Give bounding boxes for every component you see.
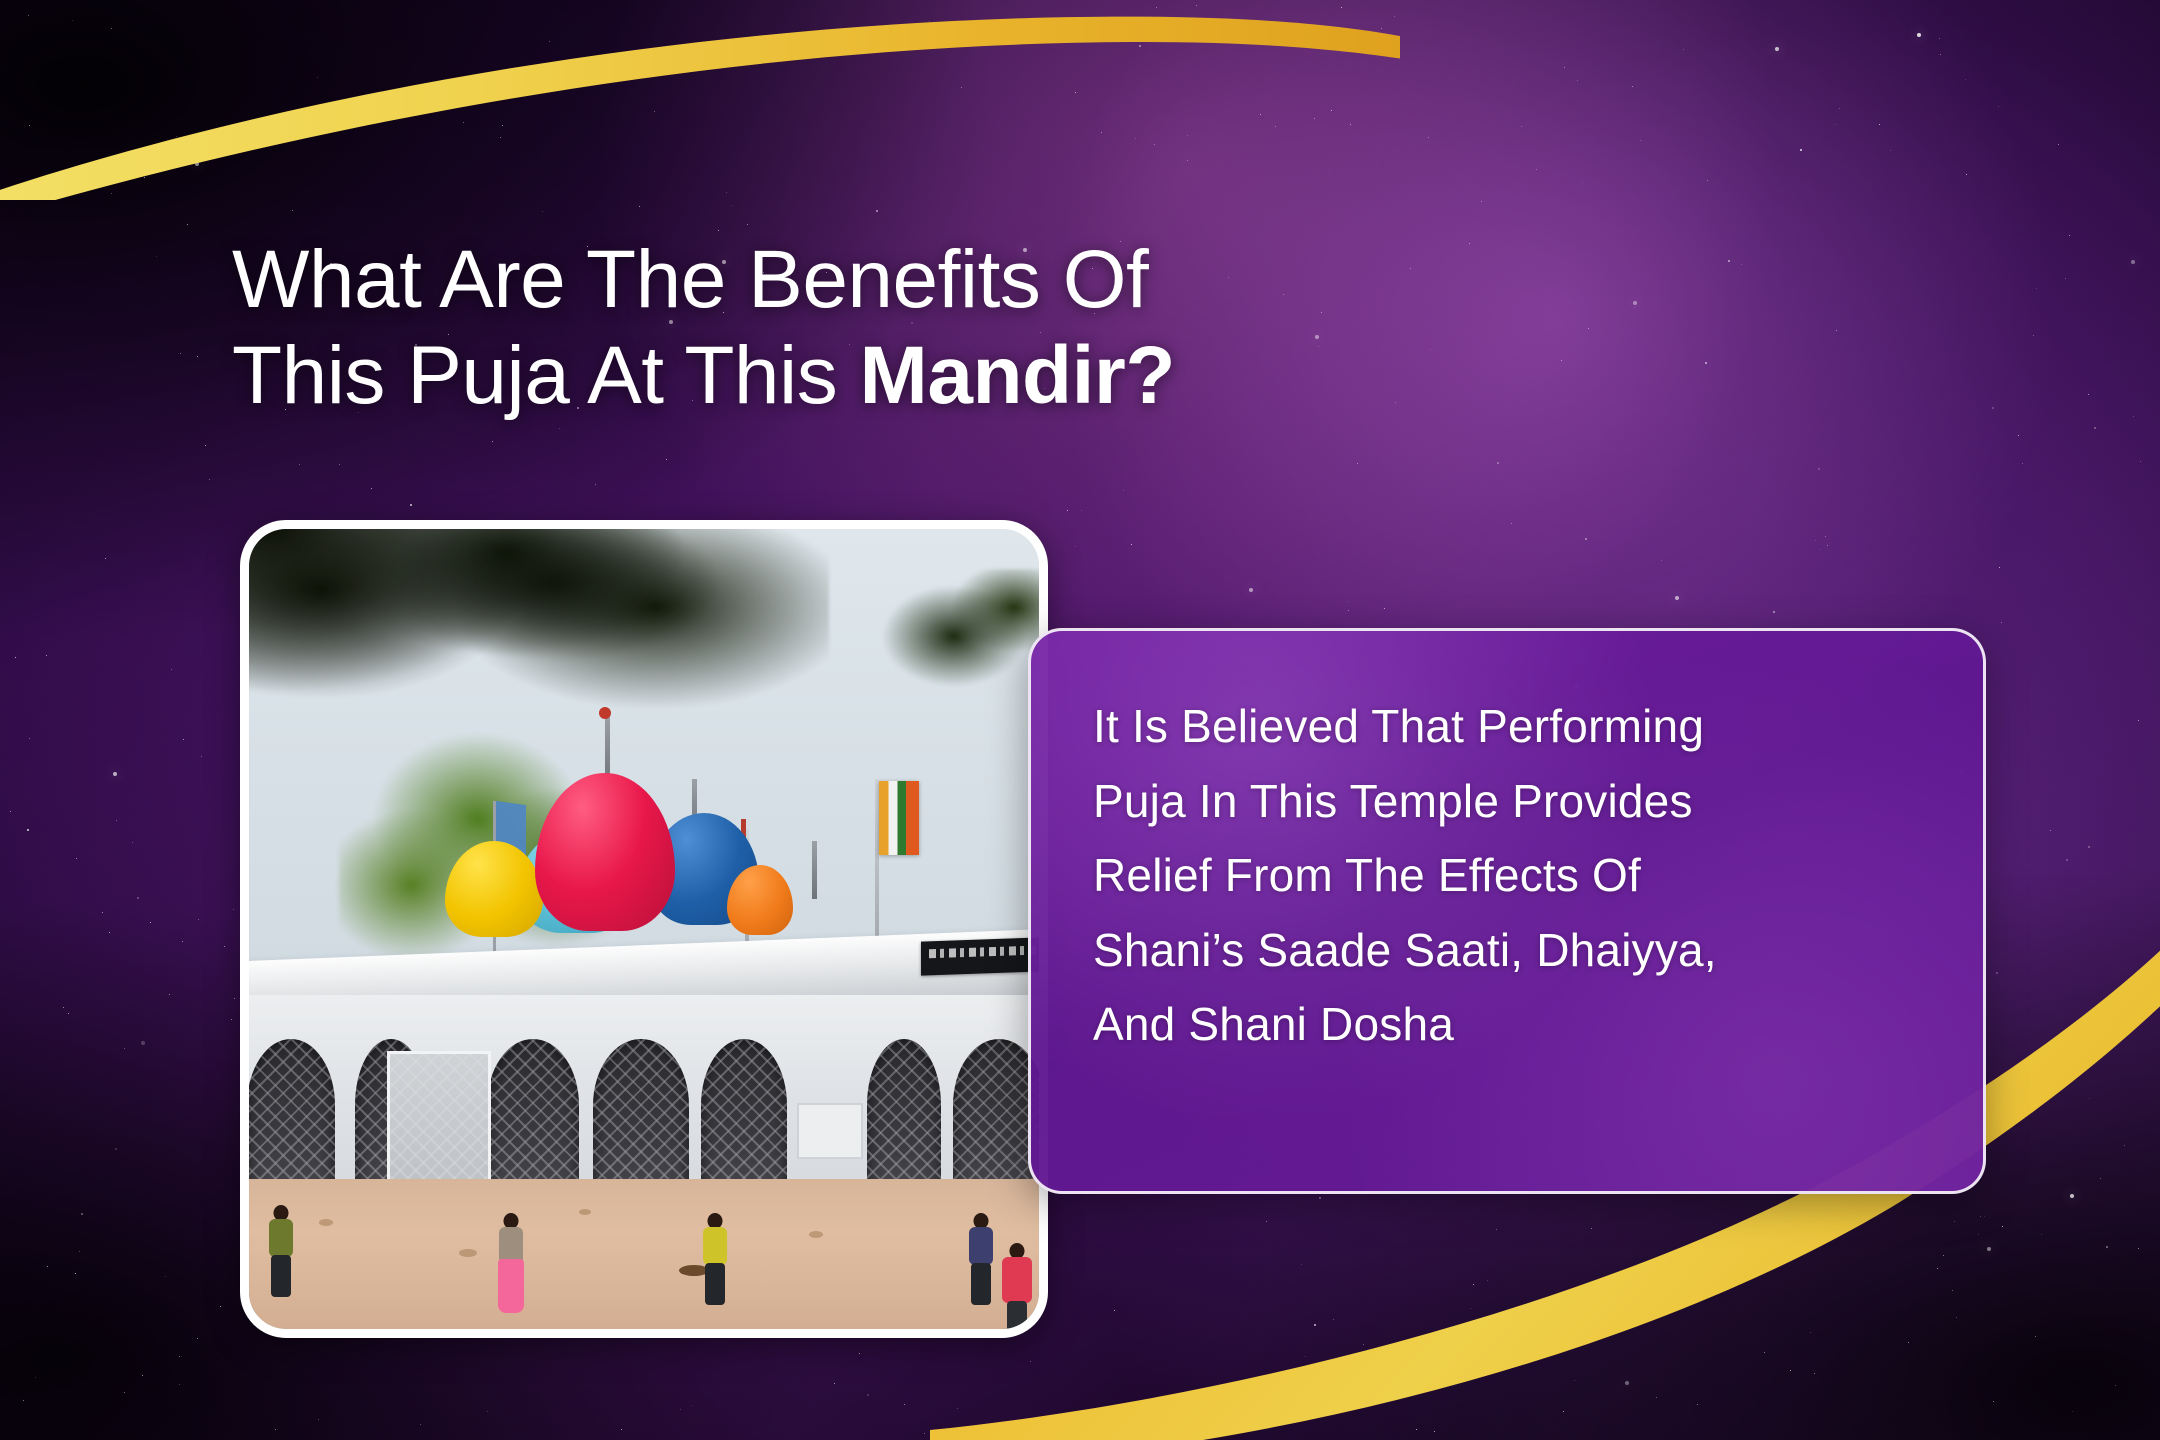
temple-photo: [249, 529, 1039, 1329]
visitor-torso: [1002, 1257, 1032, 1303]
temple-window: [797, 1103, 863, 1159]
visitor: [493, 1213, 529, 1329]
page-title: What Are The Benefits Of This Puja At Th…: [232, 232, 2072, 424]
visitor-skirt: [498, 1259, 524, 1313]
visitor-torso: [703, 1227, 727, 1265]
visitor: [263, 1205, 299, 1325]
visitor-legs: [971, 1263, 991, 1305]
ground-mark: [459, 1249, 477, 1257]
temple-signboard: [921, 936, 1039, 975]
visitor-legs: [1007, 1301, 1027, 1329]
callout-line: Relief From The Effects Of: [1093, 838, 1943, 913]
visitor: [963, 1213, 999, 1329]
callout-line: Puja In This Temple Provides: [1093, 764, 1943, 839]
ground-mark: [319, 1219, 333, 1226]
tree-canopy-secondary: [369, 529, 829, 691]
callout-line: And Shani Dosha: [1093, 987, 1943, 1062]
visitor-torso: [969, 1227, 993, 1265]
signboard-text: [929, 945, 1039, 959]
page-title-emphasis: Mandir?: [860, 330, 1175, 421]
callout-line: Shani’s Saade Saati, Dhaiyya,: [1093, 913, 1943, 988]
spire-small: [812, 841, 817, 899]
callout-line: It Is Believed That Performing: [1093, 689, 1943, 764]
callout-panel: It Is Believed That Performing Puja In T…: [1028, 628, 1986, 1194]
visitor-torso: [269, 1219, 293, 1257]
ground-mark: [579, 1209, 591, 1215]
temple-flag-icon: [879, 781, 919, 855]
visitor-legs: [705, 1263, 725, 1305]
ground-mark: [809, 1231, 823, 1238]
page-title-line-2: This Puja At This Mandir?: [232, 328, 2072, 424]
visitor: [997, 1243, 1037, 1329]
tree-branch-right: [799, 569, 1039, 729]
page-title-line-2-plain: This Puja At This: [232, 330, 860, 421]
temple-ground: [249, 1179, 1039, 1329]
page-title-line-1: What Are The Benefits Of: [232, 232, 2072, 328]
finial-center: [599, 707, 611, 719]
temple-photo-card: [240, 520, 1048, 1338]
slide-canvas: What Are The Benefits Of This Puja At Th…: [0, 0, 2160, 1440]
visitor: [697, 1213, 733, 1329]
visitor-legs: [271, 1255, 291, 1297]
callout-text: It Is Believed That Performing Puja In T…: [1093, 689, 1943, 1062]
